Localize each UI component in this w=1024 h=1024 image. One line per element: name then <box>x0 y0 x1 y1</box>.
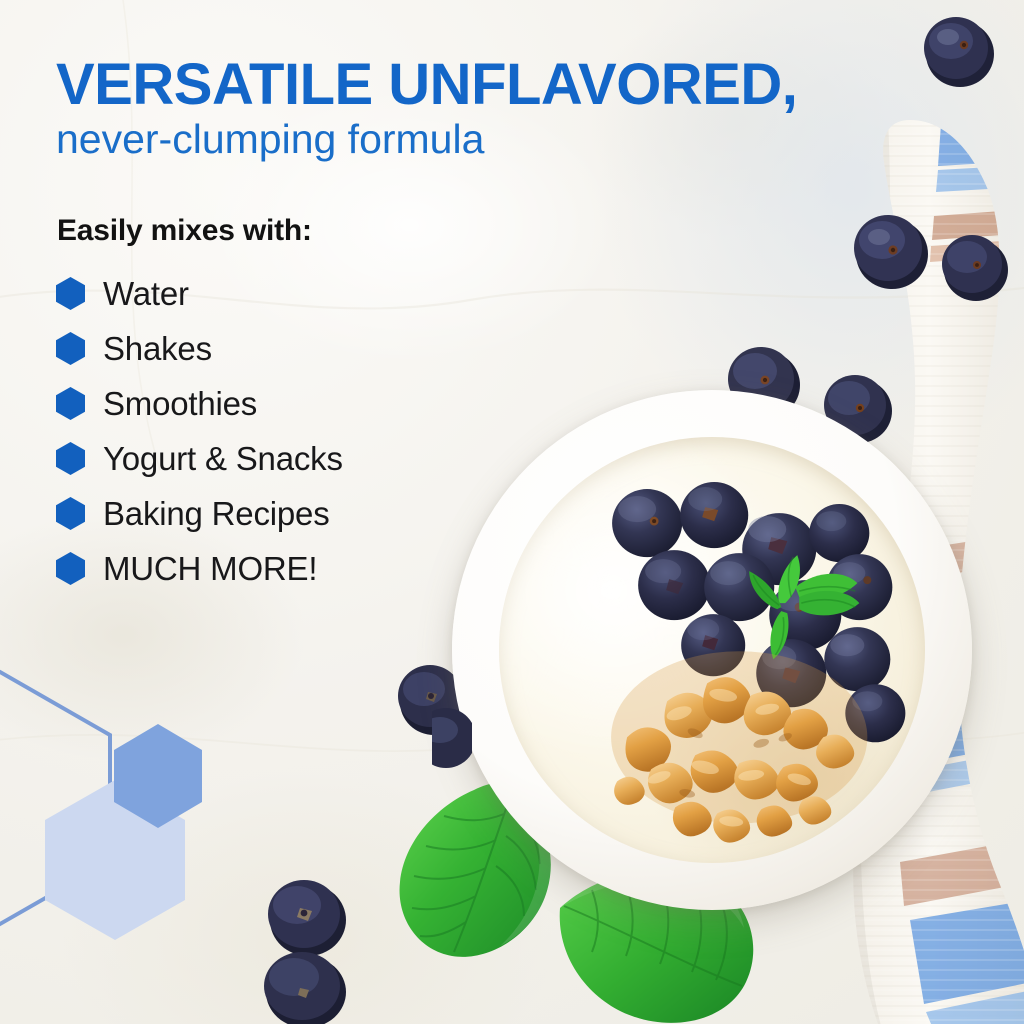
blueberry <box>936 228 1012 304</box>
bowl-interior <box>499 437 925 863</box>
mixes-with-label: Easily mixes with: <box>57 214 312 248</box>
mixes-with-list: Water Shakes Smoothies Yogurt & Snacks B… <box>56 266 476 596</box>
list-item-label: Shakes <box>103 330 212 368</box>
bowl-contents <box>499 437 925 863</box>
hexagon-bullet-icon <box>56 387 85 420</box>
list-item-label: Yogurt & Snacks <box>103 440 343 478</box>
decorative-hexagon-cluster <box>0 660 320 990</box>
list-item-label: Water <box>103 275 189 313</box>
headline-primary: VERSATILE UNFLAVORED, <box>56 56 816 114</box>
hexagon-bullet-icon <box>56 277 85 310</box>
hexagon-bullet-icon <box>56 552 85 585</box>
list-item-label: Baking Recipes <box>103 495 330 533</box>
list-item-label: Smoothies <box>103 385 257 423</box>
granola <box>611 651 867 842</box>
hexagon-bullet-icon <box>56 332 85 365</box>
list-item: Yogurt & Snacks <box>56 431 476 486</box>
headline-secondary: never-clumping formula <box>56 118 816 161</box>
white-ceramic-bowl <box>452 390 972 910</box>
blueberry <box>848 208 932 292</box>
blueberry <box>918 10 998 90</box>
hexagon-bullet-icon <box>56 442 85 475</box>
list-item: Smoothies <box>56 376 476 431</box>
blueberry <box>432 700 472 774</box>
list-item: MUCH MORE! <box>56 541 476 596</box>
list-item: Baking Recipes <box>56 486 476 541</box>
list-item-label: MUCH MORE! <box>103 550 317 588</box>
product-marketing-graphic: VERSATILE UNFLAVORED, never-clumping for… <box>0 0 1024 1024</box>
list-item: Water <box>56 266 476 321</box>
hexagon-bullet-icon <box>56 497 85 530</box>
list-item: Shakes <box>56 321 476 376</box>
